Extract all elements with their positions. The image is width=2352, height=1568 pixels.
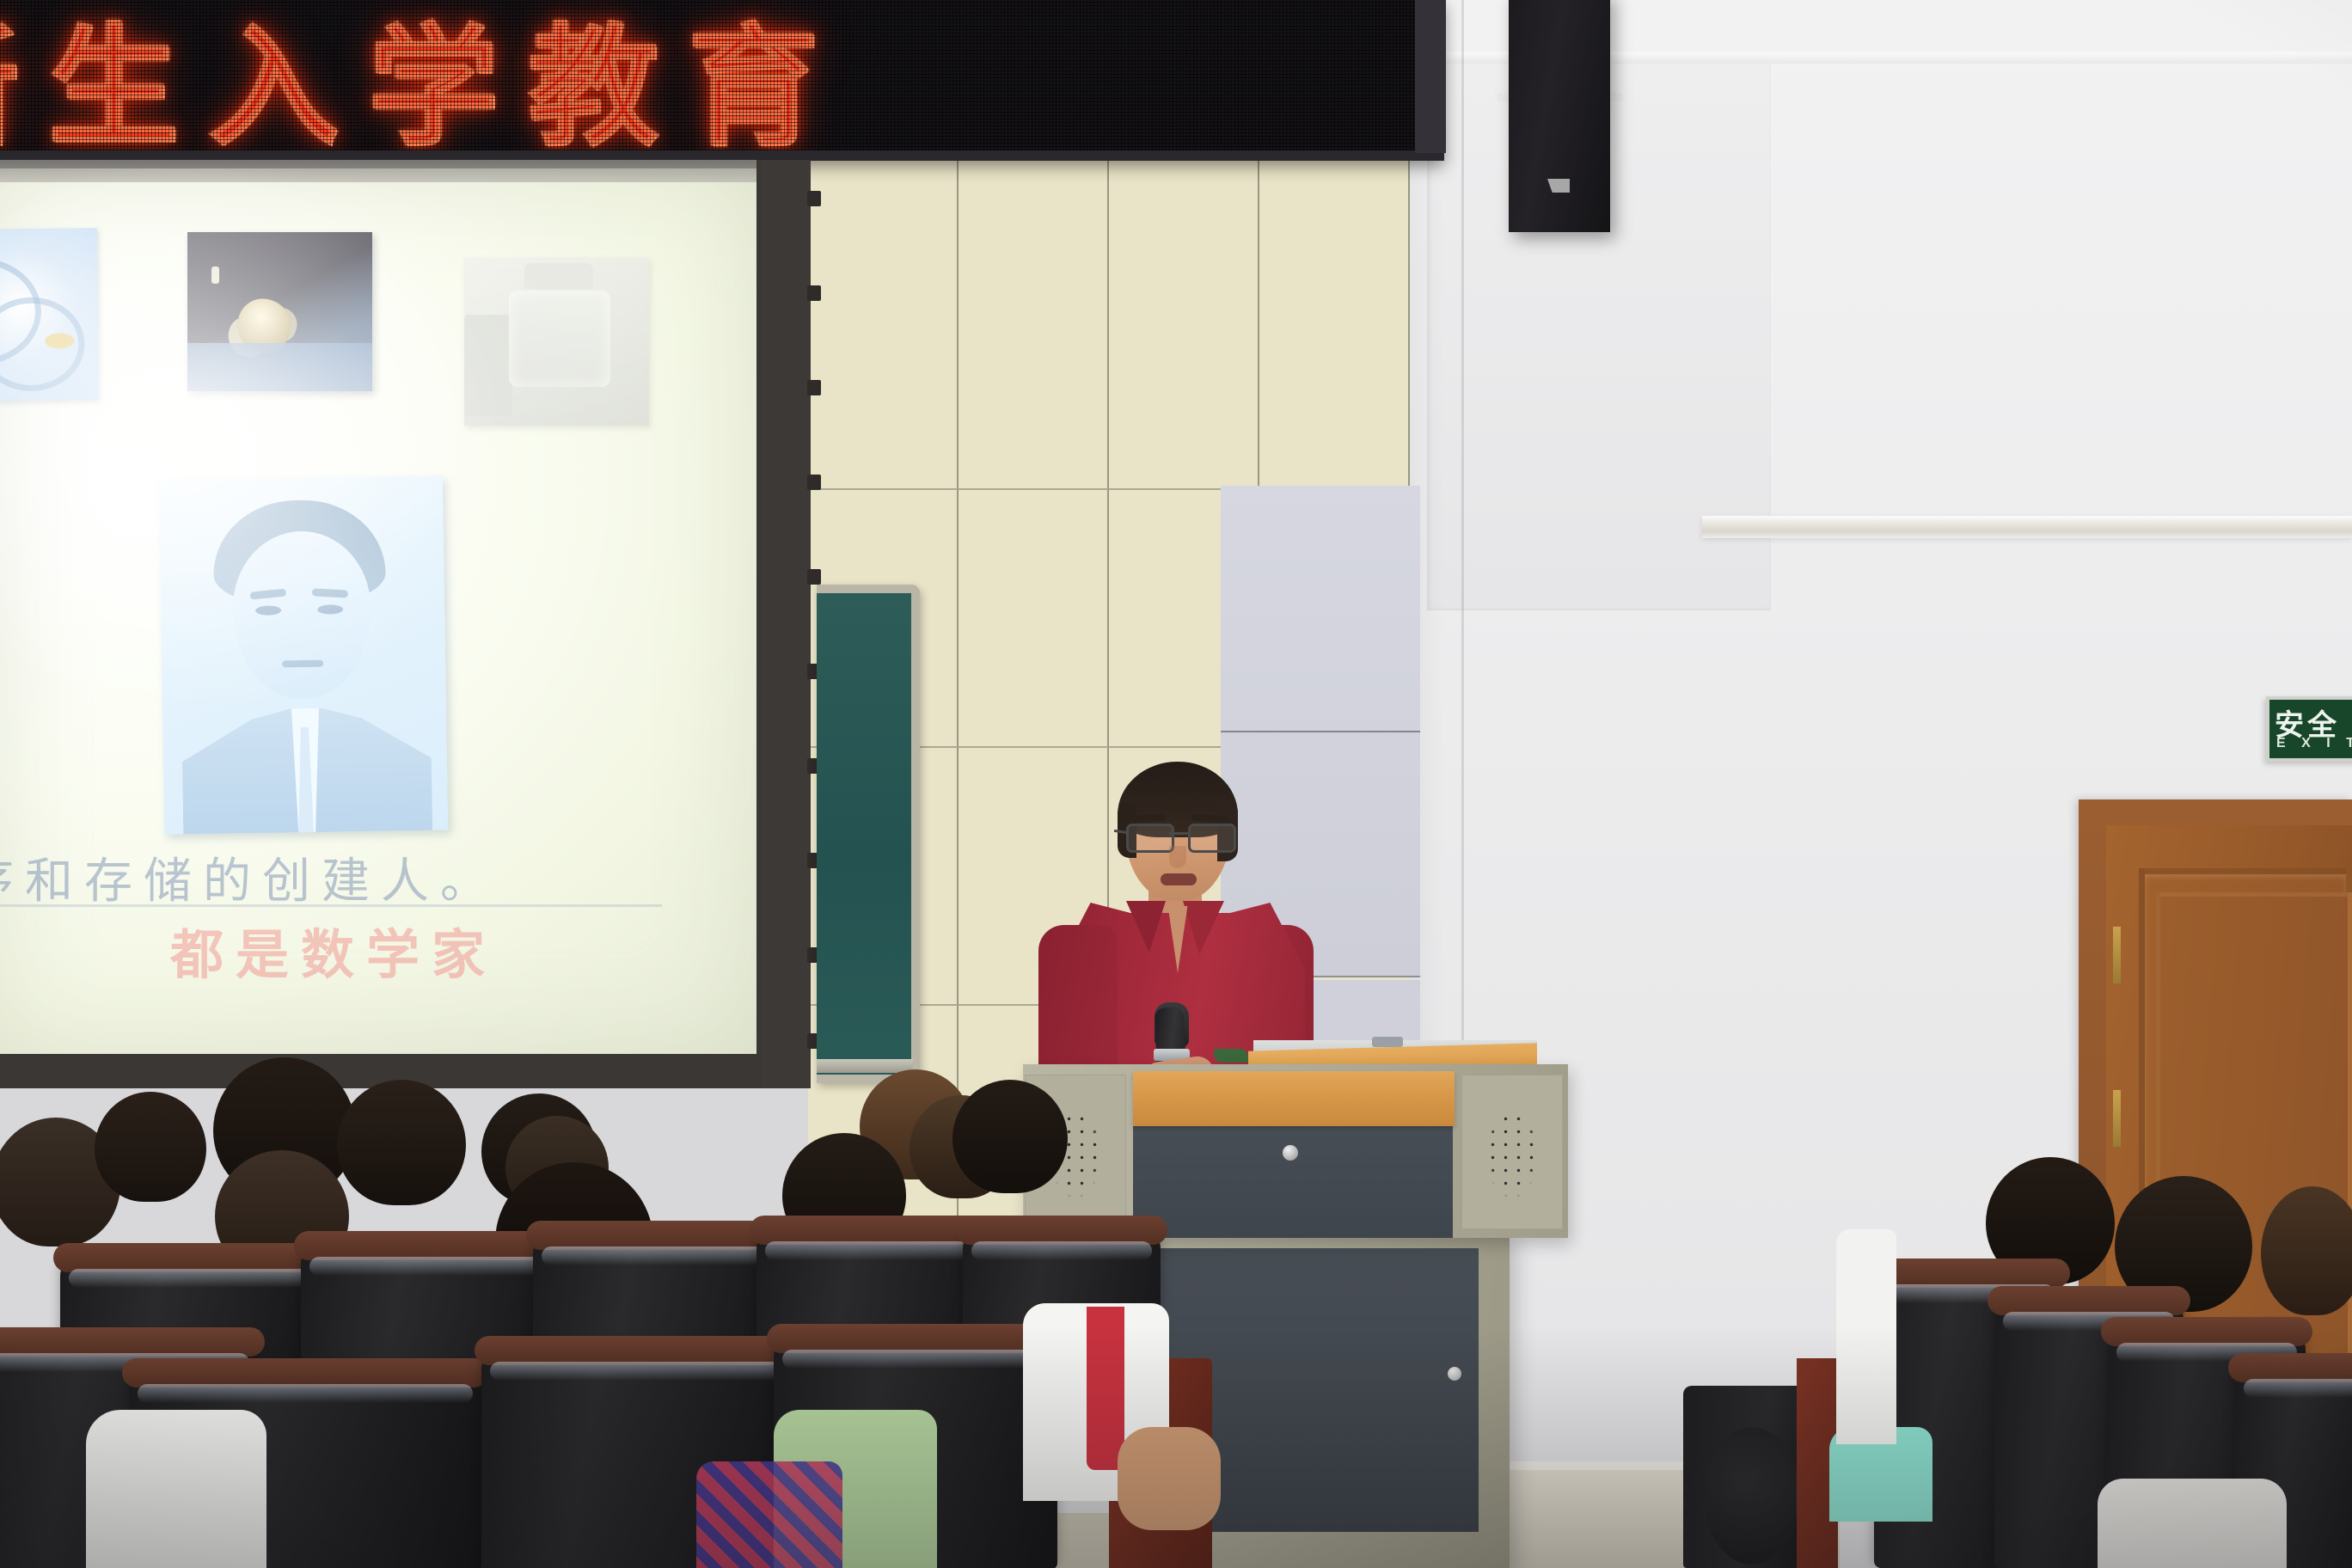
audience-light-shirt [2098,1479,2287,1568]
audience-patterned-shirt [696,1461,842,1568]
green-chalkboard [817,585,920,1083]
slide-image-camera [464,258,649,426]
wall-upper-trim [1341,52,2352,64]
audience-head [952,1080,1068,1193]
slide-text-line-2: 。 [0,922,20,991]
gray-wall-panel-upper [1221,486,1420,732]
door-hinge-lower [2113,1090,2121,1147]
polo-logo-icon [1214,1049,1248,1063]
led-banner-bezel [1415,0,1446,153]
slide-image-blue-abstract [0,228,99,401]
audience-head [95,1092,206,1202]
led-banner: 新生入学教育 [0,0,1444,161]
door-hinge-upper [2113,927,2121,983]
stage-monitor-speaker [1683,1386,1812,1568]
slide-portrait-photo [159,475,448,834]
audience-white-sleeve [1836,1229,1896,1444]
audience-red-strap [1087,1307,1124,1470]
lectern-front-lock[interactable] [1283,1145,1298,1161]
audience-arm [1118,1427,1221,1530]
presenter-mouth [1161,873,1197,885]
wall-horizontal-trim [1702,516,2352,538]
auditorium-scene: 新生入学教育 [0,0,2352,1568]
exit-sign-english-text: E X I T [2276,736,2352,751]
audience-white-shirt [86,1410,266,1568]
presenter-nose [1169,846,1186,868]
projection-screen-frame-right [761,160,811,1088]
led-banner-text: 新生入学教育 [0,0,848,161]
slide-image-astronaut [187,232,372,391]
jbl-column-speaker [1509,0,1610,232]
lectern-base-lock[interactable] [1448,1367,1461,1381]
emergency-exit-sign: 安全 E X I T [2266,696,2352,762]
lectern-monitor-knob[interactable] [1372,1037,1403,1047]
chalkboard-tray [817,1059,913,1073]
projection-screen-top-bar [0,160,756,182]
slide-text-line-1: 序和存储的创建人。 [0,842,499,912]
slide-text-highlight: 都是数学家 [170,911,497,989]
audience-head [337,1080,466,1205]
lectern-speaker-grille-right [1461,1075,1563,1229]
lectern-wood-trim [1133,1071,1455,1126]
